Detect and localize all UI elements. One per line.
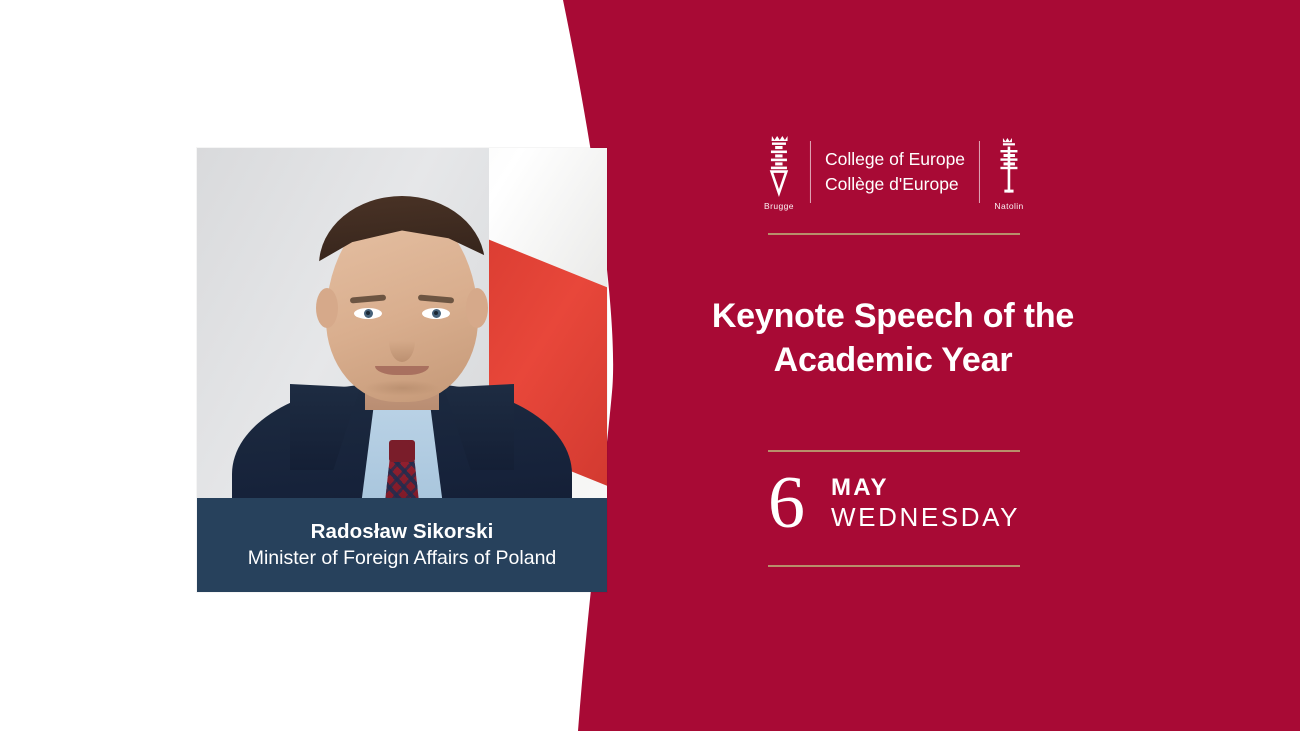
speaker-role: Minister of Foreign Affairs of Poland bbox=[248, 546, 557, 571]
speaker-figure bbox=[197, 148, 607, 498]
speaker-caption-bar: Radosław Sikorski Minister of Foreign Af… bbox=[197, 498, 607, 592]
brugge-crest-icon bbox=[762, 133, 796, 197]
title-line-1: Keynote Speech of the bbox=[673, 295, 1113, 339]
brugge-campus-label: Brugge bbox=[764, 201, 794, 211]
divider-below-logo bbox=[768, 233, 1020, 235]
event-announcement-poster: Radosław Sikorski Minister of Foreign Af… bbox=[0, 0, 1300, 731]
college-of-europe-logo[interactable]: Brugge College of Europe Collège d'Europ… bbox=[762, 133, 1024, 211]
nose bbox=[389, 320, 415, 362]
logo-name-fr: Collège d'Europe bbox=[825, 172, 965, 197]
ear-left bbox=[316, 288, 338, 328]
chin-shadow bbox=[364, 380, 440, 396]
natolin-campus-label: Natolin bbox=[994, 201, 1023, 211]
right-content-column: Brugge College of Europe Collège d'Europ… bbox=[655, 0, 1131, 731]
natolin-crest-block: Natolin bbox=[994, 133, 1024, 211]
event-date: 6 MAY WEDNESDAY bbox=[768, 473, 1020, 534]
date-day-number: 6 bbox=[768, 473, 805, 534]
divider-above-date bbox=[768, 450, 1020, 452]
eye-right bbox=[422, 308, 450, 319]
title-line-2: Academic Year bbox=[673, 339, 1113, 383]
divider-below-date bbox=[768, 565, 1020, 567]
speaker-name: Radosław Sikorski bbox=[311, 519, 494, 545]
date-weekday: WEDNESDAY bbox=[831, 502, 1020, 533]
brugge-crest-block: Brugge bbox=[762, 133, 796, 211]
iris-right bbox=[432, 309, 441, 318]
date-labels: MAY WEDNESDAY bbox=[831, 474, 1020, 533]
speaker-photo-card: Radosław Sikorski Minister of Foreign Af… bbox=[197, 148, 607, 592]
logo-wordmark: College of Europe Collège d'Europe bbox=[825, 147, 965, 198]
speaker-photo bbox=[197, 148, 607, 498]
page-title: Keynote Speech of the Academic Year bbox=[655, 295, 1131, 382]
necktie-knot bbox=[389, 440, 415, 462]
iris-left bbox=[364, 309, 373, 318]
logo-name-en: College of Europe bbox=[825, 147, 965, 172]
necktie bbox=[385, 458, 419, 498]
eye-left bbox=[354, 308, 382, 319]
logo-divider-left bbox=[810, 141, 811, 203]
ear-right bbox=[466, 288, 488, 328]
natolin-crest-icon bbox=[994, 133, 1024, 197]
logo-divider-right bbox=[979, 141, 980, 203]
date-month: MAY bbox=[831, 474, 1020, 502]
